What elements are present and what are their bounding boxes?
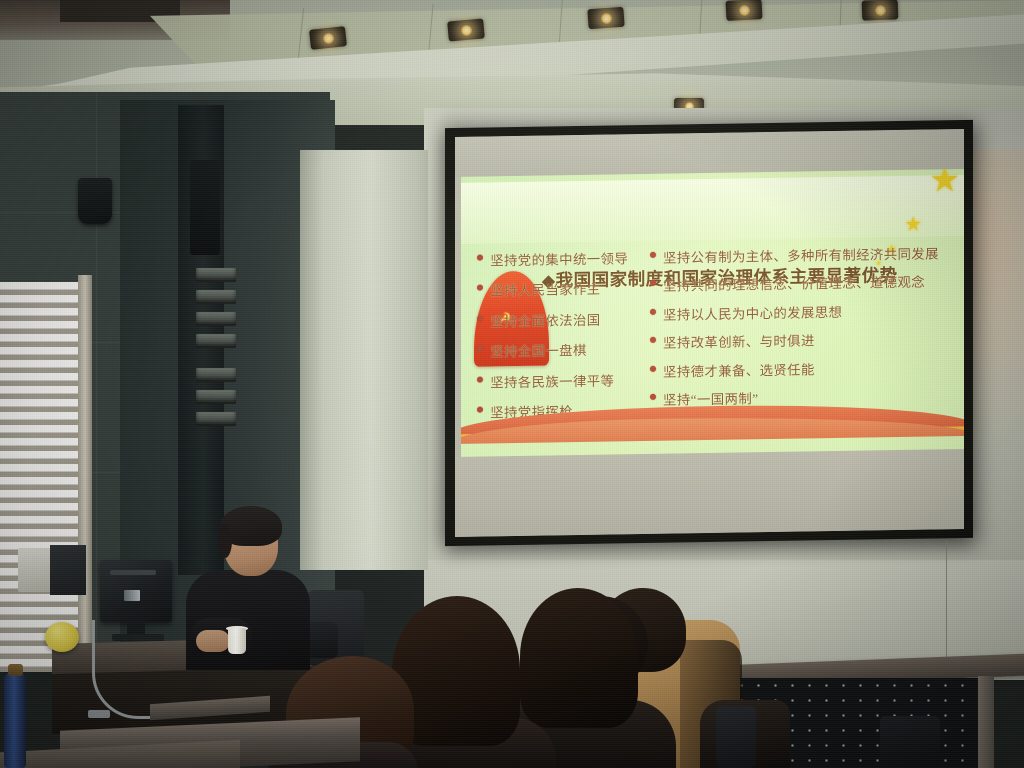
paper-cup [228, 628, 246, 654]
equipment-box [18, 548, 52, 592]
bullet-text: 坚持人民当家作主 [490, 278, 600, 300]
yellow-melon [45, 622, 79, 652]
presentation-slide: ☭ ◆我国国家制度和国家治理体系主要显著优势 ★ ★ ★ ★ 坚持党的集中统一领… [461, 169, 964, 457]
list-item: 坚持以人民为中心的发展思想 [650, 299, 962, 324]
meeting-room-photo: ☭ ◆我国国家制度和国家治理体系主要显著优势 ★ ★ ★ ★ 坚持党的集中统一领… [0, 0, 1024, 768]
screen-blank-bottom [455, 449, 964, 537]
screen-pull-cord[interactable] [946, 540, 947, 660]
list-item: 坚持公有制为主体、多种所有制经济共同发展 [650, 242, 962, 267]
ceiling-downlight [587, 7, 624, 29]
window [0, 282, 87, 672]
bullet-text: 坚持党的集中统一领导 [490, 247, 628, 269]
window-frame [78, 275, 92, 675]
pillar-light [300, 150, 428, 570]
presenter-hair-side [218, 524, 232, 558]
list-item: 坚持改革创新、与时俱进 [650, 327, 962, 352]
water-bottle [4, 672, 26, 768]
ceiling-downlight [447, 18, 485, 41]
monitor-logo [124, 590, 140, 601]
chair[interactable] [880, 716, 940, 768]
bullet-dot-icon [650, 280, 656, 286]
bullet-text: 坚持全面依法治国 [490, 309, 600, 331]
list-item: 坚持人民当家作主 [477, 277, 658, 300]
monitor-vent [110, 570, 156, 575]
list-item: 坚持共同的理想信念、价值理念、道德观念 [650, 270, 962, 295]
presenter-hand [196, 630, 230, 652]
bullet-text: 坚持德才兼备、选贤任能 [663, 358, 815, 380]
projection-surface: ☭ ◆我国国家制度和国家治理体系主要显著优势 ★ ★ ★ ★ 坚持党的集中统一领… [455, 129, 964, 537]
bullet-text: 坚持公有制为主体、多种所有制经济共同发展 [663, 242, 939, 266]
bullet-dot-icon [477, 376, 483, 382]
slide-footer-decoration [461, 376, 964, 457]
bullet-dot-icon [650, 252, 656, 258]
ceiling-downlight [726, 0, 763, 21]
bullet-text: 坚持改革创新、与时俱进 [663, 330, 815, 352]
bullet-dot-icon [477, 315, 483, 321]
bullet-text: 坚持全国一盘棋 [490, 339, 587, 361]
bullet-dot-icon [477, 346, 483, 352]
ceiling-downlight [862, 0, 899, 21]
bullet-dot-icon [477, 285, 483, 291]
bullet-dot-icon [650, 366, 656, 372]
microphone-base [88, 710, 110, 718]
projection-screen: ☭ ◆我国国家制度和国家治理体系主要显著优势 ★ ★ ★ ★ 坚持党的集中统一领… [445, 120, 973, 546]
bullet-dot-icon [477, 254, 483, 260]
list-item: 坚持全面依法治国 [477, 308, 658, 331]
slide-title-bar [461, 175, 964, 245]
bullet-text: 坚持共同的理想信念、价值理念、道德观念 [663, 271, 925, 295]
list-item: 坚持全国一盘棋 [477, 338, 658, 361]
ceiling-downlight [309, 26, 347, 50]
bullet-dot-icon [650, 309, 656, 315]
monitor-rear[interactable] [100, 560, 172, 622]
list-item: 坚持党的集中统一领导 [477, 247, 658, 270]
star-icon: ★ [929, 169, 959, 198]
tile-seam [96, 92, 97, 652]
equipment-box-dark [50, 545, 86, 595]
wall-vent-louvres [196, 268, 236, 438]
bullet-dot-icon [650, 337, 656, 343]
water-bottle-cap [8, 664, 23, 676]
star-icon: ★ [904, 214, 922, 234]
window-blinds[interactable] [0, 282, 82, 672]
wall-speaker-secondary [190, 160, 220, 255]
chair[interactable] [716, 706, 756, 768]
audience-member-hair [520, 588, 638, 728]
wall-speaker [78, 178, 112, 224]
bullet-text: 坚持以人民为中心的发展思想 [663, 301, 842, 324]
right-desk-leg [978, 676, 994, 768]
